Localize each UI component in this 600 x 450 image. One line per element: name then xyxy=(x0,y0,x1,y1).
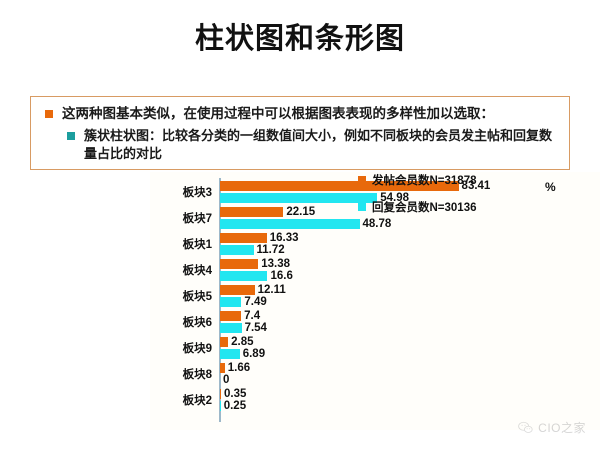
category-label: 板块9 xyxy=(150,340,212,358)
chart-category-group: 板块81.660 xyxy=(0,362,600,388)
chart-bar-value-label: 16.6 xyxy=(270,271,292,281)
chart-bar-value-label: 6.89 xyxy=(243,349,265,359)
watermark: CIO之家 xyxy=(518,419,586,436)
chart-bar-value-label: 0 xyxy=(223,375,229,385)
chart-bar xyxy=(220,401,221,411)
chart-category-group: 板块20.350.25 xyxy=(0,388,600,414)
chart-legend: 发帖会员数N=31878 回复会员数N=30136 xyxy=(358,172,538,226)
bullet-item-1-text: 这两种图基本类似，在使用过程中可以根据图表表现的多样性加以选取： xyxy=(62,105,494,123)
slide: 柱状图和条形图 这两种图基本类似，在使用过程中可以根据图表表现的多样性加以选取：… xyxy=(0,0,600,450)
chart-bar xyxy=(220,259,258,269)
teal-square-bullet-icon xyxy=(67,132,75,140)
bullet-item-2: 簇状柱状图：比较各分类的一组数值间大小，例如不同板块的会员发主帖和回复数量占比的… xyxy=(39,127,561,163)
chart-bar-value-label: 13.38 xyxy=(261,259,290,269)
chart-bar xyxy=(220,245,254,255)
chart-bar-value-label: 2.85 xyxy=(231,337,253,347)
orange-square-bullet-icon xyxy=(45,110,53,118)
bullet-item-2-text: 簇状柱状图：比较各分类的一组数值间大小，例如不同板块的会员发主帖和回复数量占比的… xyxy=(84,127,561,163)
chart-bar-group: 13.38 xyxy=(220,259,290,269)
chart-bar-group: 16.6 xyxy=(220,271,293,281)
category-label: 板块6 xyxy=(150,314,212,332)
chart-bar-group: 2.85 xyxy=(220,337,254,347)
chart-bar-value-label: 0.25 xyxy=(224,401,246,411)
category-label: 板块3 xyxy=(150,184,212,202)
chart-category-group: 板块116.3311.72 xyxy=(0,232,600,258)
chart-bar-value-label: 0.35 xyxy=(224,389,246,399)
chart-bar-group: 22.15 xyxy=(220,207,315,217)
chart-bar xyxy=(220,349,240,359)
chart-bar-value-label: 1.66 xyxy=(228,363,250,373)
chart-bar xyxy=(220,285,255,295)
chart-bar-group: 0 xyxy=(220,375,229,385)
chart-bar-group: 7.49 xyxy=(220,297,267,307)
chart-category-group: 板块512.117.49 xyxy=(0,284,600,310)
chart-bar xyxy=(220,193,377,203)
chart-bar xyxy=(220,389,221,399)
category-label: 板块2 xyxy=(150,392,212,410)
chart-bar-group: 1.66 xyxy=(220,363,250,373)
bullet-item-1: 这两种图基本类似，在使用过程中可以根据图表表现的多样性加以选取： xyxy=(39,105,561,123)
chart-category-group: 板块92.856.89 xyxy=(0,336,600,362)
legend-item-series2: 回复会员数N=30136 xyxy=(358,199,538,215)
chart-bar xyxy=(220,311,241,321)
chart-bar xyxy=(220,219,360,229)
chart-bar-group: 0.35 xyxy=(220,389,246,399)
chart-bar-group: 6.89 xyxy=(220,349,265,359)
chart-bar-group: 12.11 xyxy=(220,285,286,295)
chart-bar-group: 7.54 xyxy=(220,323,267,333)
category-label: 板块5 xyxy=(150,288,212,306)
legend-item-series1: 发帖会员数N=31878 xyxy=(358,172,538,188)
category-label: 板块4 xyxy=(150,262,212,280)
chart-bar-value-label: 11.72 xyxy=(257,245,285,255)
chart-bar-group: 7.4 xyxy=(220,311,260,321)
chart-bar xyxy=(220,233,267,243)
legend-label-series1: 发帖会员数N=31878 xyxy=(372,172,477,188)
chart-category-group: 板块67.47.54 xyxy=(0,310,600,336)
chart-bar xyxy=(220,271,267,281)
category-label: 板块7 xyxy=(150,210,212,228)
bullet-text-box: 这两种图基本类似，在使用过程中可以根据图表表现的多样性加以选取： 簇状柱状图：比… xyxy=(30,96,570,170)
watermark-text: CIO之家 xyxy=(538,419,586,436)
legend-swatch-series1-icon xyxy=(358,176,366,184)
chart-bar-group: 16.33 xyxy=(220,233,298,243)
page-title: 柱状图和条形图 xyxy=(0,20,600,58)
chart-bar xyxy=(220,337,228,347)
chart-bar-value-label: 7.54 xyxy=(245,323,267,333)
chart-bar xyxy=(220,207,283,217)
chart-bar-value-label: 7.49 xyxy=(244,297,266,307)
chart-bar-value-label: 7.4 xyxy=(244,311,260,321)
chart-bar xyxy=(220,323,242,333)
category-label: 板块8 xyxy=(150,366,212,384)
legend-label-series2: 回复会员数N=30136 xyxy=(372,199,477,215)
wechat-icon xyxy=(518,421,533,434)
chart-bar xyxy=(220,297,241,307)
chart-bar-group: 0.25 xyxy=(220,401,246,411)
chart-bar-value-label: 12.11 xyxy=(258,285,286,295)
chart-bar-group: 11.72 xyxy=(220,245,285,255)
chart-bar-value-label: 22.15 xyxy=(286,207,315,217)
legend-swatch-series2-icon xyxy=(358,203,366,211)
chart-bar xyxy=(220,363,225,373)
category-label: 板块1 xyxy=(150,236,212,254)
chart-category-group: 板块413.3816.6 xyxy=(0,258,600,284)
chart-bar-value-label: 16.33 xyxy=(270,233,299,243)
